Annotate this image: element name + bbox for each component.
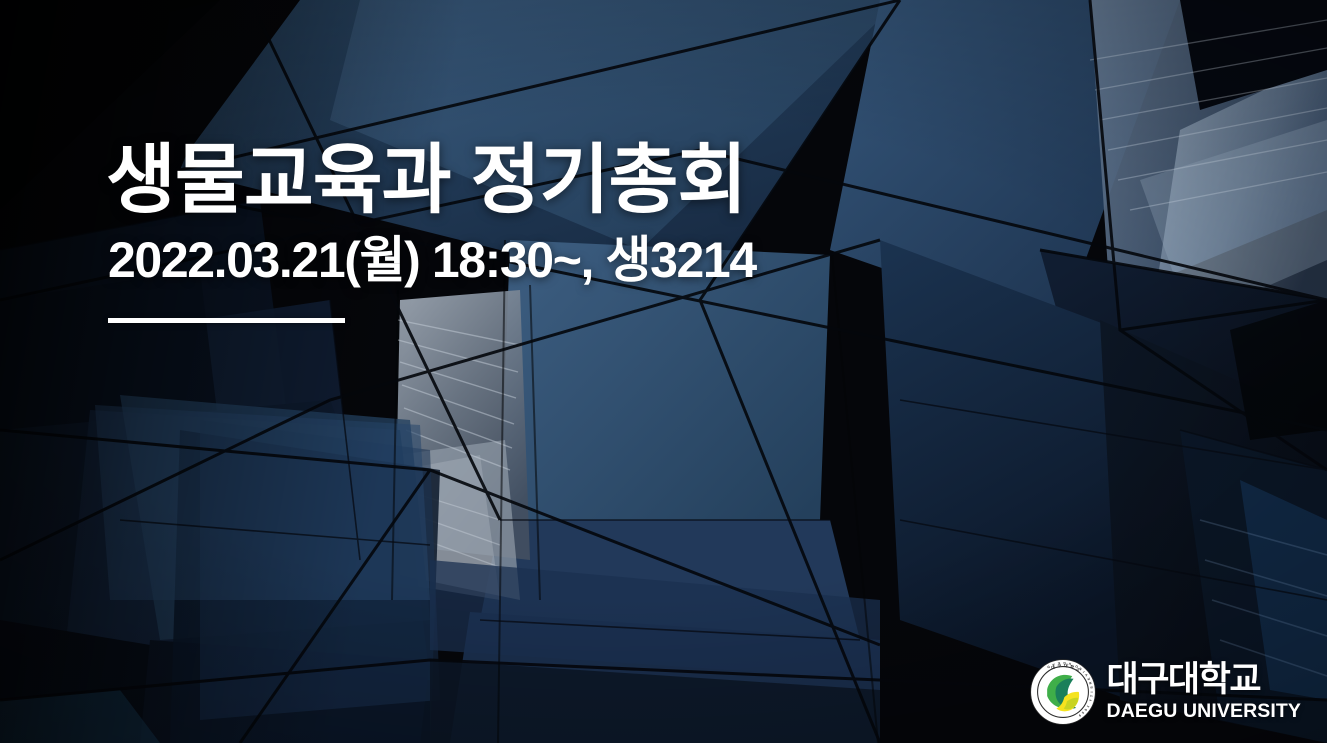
slide-title: 생물교육과 정기총회	[106, 138, 926, 223]
title-divider	[108, 318, 345, 323]
svg-text:I: I	[1090, 691, 1094, 692]
background-image	[0, 0, 1327, 743]
university-emblem-icon: 대 구 대 학 교 D A E G U U N I V E R S I T	[1030, 659, 1096, 725]
logo-wordmark: 대구대학교 DAEGU UNIVERSITY	[1107, 662, 1301, 722]
background-facets	[0, 0, 1327, 743]
daegu-university-logo: 대 구 대 학 교 D A E G U U N I V E R S I T	[1030, 659, 1301, 725]
logo-korean-name: 대구대학교	[1107, 662, 1261, 697]
logo-english-name: DAEGU UNIVERSITY	[1107, 702, 1301, 722]
slide-subtitle: 2022.03.21(월) 18:30~, 생3214	[108, 231, 926, 290]
presentation-slide: 생물교육과 정기총회 2022.03.21(월) 18:30~, 생3214 대…	[0, 0, 1327, 743]
slide-content: 생물교육과 정기총회 2022.03.21(월) 18:30~, 생3214	[106, 138, 926, 323]
